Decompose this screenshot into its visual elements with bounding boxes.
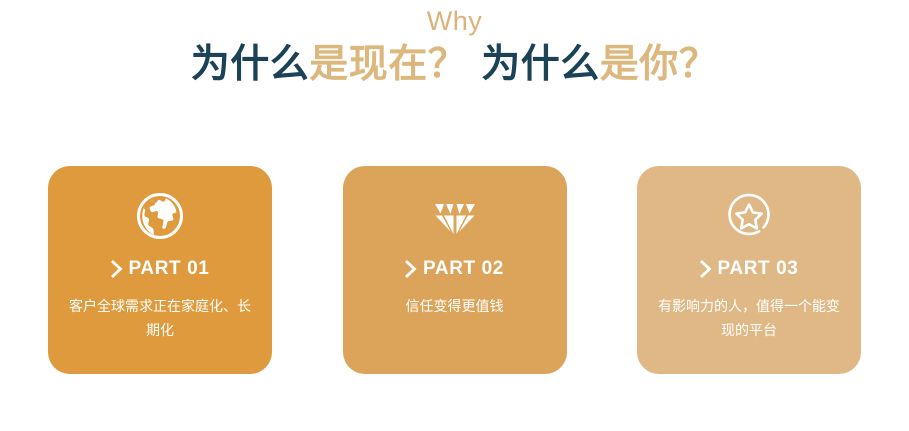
- title-segment-3: 为什么: [481, 43, 600, 86]
- globe-icon: [134, 190, 186, 242]
- slide: Why 为什么是现在？为什么是你？ PART 01: [0, 0, 909, 431]
- card-part-label-01: PART 01: [111, 258, 210, 280]
- page-title: 为什么是现在？为什么是你？: [0, 40, 909, 90]
- card-part-01[interactable]: PART 01 客户全球需求正在家庭化、长期化: [48, 166, 272, 374]
- title-segment-4: 是你？: [600, 43, 719, 86]
- title-segment-2: 是现在？: [309, 43, 467, 86]
- card-part-03[interactable]: PART 03 有影响力的人，值得一个能变现的平台: [637, 166, 861, 374]
- card-description-02: 信任变得更值钱: [362, 294, 548, 318]
- eyebrow-label: Why: [0, 0, 909, 38]
- star-circle-icon: [723, 190, 775, 242]
- title-segment-1: 为什么: [191, 43, 310, 86]
- chevron-right-icon: [405, 260, 418, 278]
- diamond-icon: [429, 190, 481, 242]
- chevron-right-icon: [700, 260, 713, 278]
- card-part-text-01: PART 01: [129, 258, 210, 280]
- card-part-02[interactable]: PART 02 信任变得更值钱: [343, 166, 567, 374]
- card-part-text-02: PART 02: [423, 258, 504, 280]
- card-description-01: 客户全球需求正在家庭化、长期化: [67, 294, 253, 342]
- card-part-text-03: PART 03: [718, 258, 799, 280]
- card-part-label-03: PART 03: [700, 258, 799, 280]
- card-description-03: 有影响力的人，值得一个能变现的平台: [656, 294, 842, 342]
- cards-row: PART 01 客户全球需求正在家庭化、长期化: [48, 166, 861, 374]
- card-part-label-02: PART 02: [405, 258, 504, 280]
- slide-header: Why 为什么是现在？为什么是你？: [0, 0, 909, 90]
- chevron-right-icon: [111, 260, 124, 278]
